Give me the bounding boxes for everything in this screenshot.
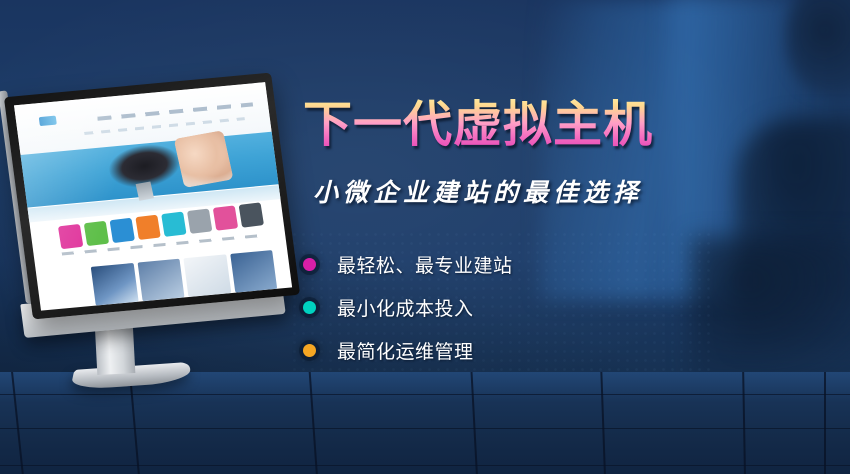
copy-block: 下一代虚拟主机 小微企业建站的最佳选择 最轻松、最专业建站最小化成本投入最简化运…	[303, 98, 703, 380]
website-thumbnail-row	[91, 250, 277, 306]
monitor-bezel	[4, 73, 300, 320]
bullet-dot-magenta	[303, 258, 316, 271]
headline: 下一代虚拟主机	[303, 98, 703, 153]
feature-list-item: 最轻松、最专业建站	[303, 251, 703, 278]
subheadline: 小微企业建站的最佳选择	[313, 173, 703, 209]
feature-list-item: 最小化成本投入	[303, 294, 703, 321]
app-icon-cyan	[161, 212, 186, 237]
website-thumbnail	[230, 250, 277, 293]
floor-line-horizontal	[0, 465, 850, 466]
feature-list: 最轻松、最专业建站最小化成本投入最简化运维管理	[303, 251, 703, 364]
website-thumbnail	[137, 258, 184, 301]
monitor-screen	[14, 82, 292, 311]
app-icon-magenta	[58, 224, 83, 249]
floor-line-horizontal	[0, 428, 850, 429]
website-hero-product-stand	[135, 181, 153, 200]
floor-line-horizontal	[0, 394, 850, 395]
website-thumbnail	[184, 254, 231, 297]
feature-list-item-label: 最简化运维管理	[337, 337, 474, 364]
bullet-marker	[303, 339, 337, 361]
app-icon-green	[84, 221, 109, 246]
app-icon-blue	[109, 218, 134, 243]
floor	[0, 372, 850, 474]
app-icon-pink	[213, 206, 238, 231]
floor-line-vertical	[824, 372, 826, 474]
desktop-monitor	[10, 84, 300, 384]
app-icon-orange	[135, 215, 160, 240]
bullet-marker	[303, 296, 337, 318]
feature-list-item-label: 最小化成本投入	[337, 294, 474, 321]
promo-banner: 下一代虚拟主机 小微企业建站的最佳选择 最轻松、最专业建站最小化成本投入最简化运…	[0, 0, 850, 474]
bullet-dot-orange	[303, 344, 316, 357]
bullet-marker	[303, 253, 337, 275]
app-icon-dark	[239, 202, 264, 227]
website-thumbnail	[91, 263, 138, 306]
app-icon-gray	[187, 209, 212, 234]
feature-list-item: 最简化运维管理	[303, 337, 703, 364]
feature-list-item-label: 最轻松、最专业建站	[337, 251, 513, 278]
bullet-dot-teal	[303, 301, 316, 314]
